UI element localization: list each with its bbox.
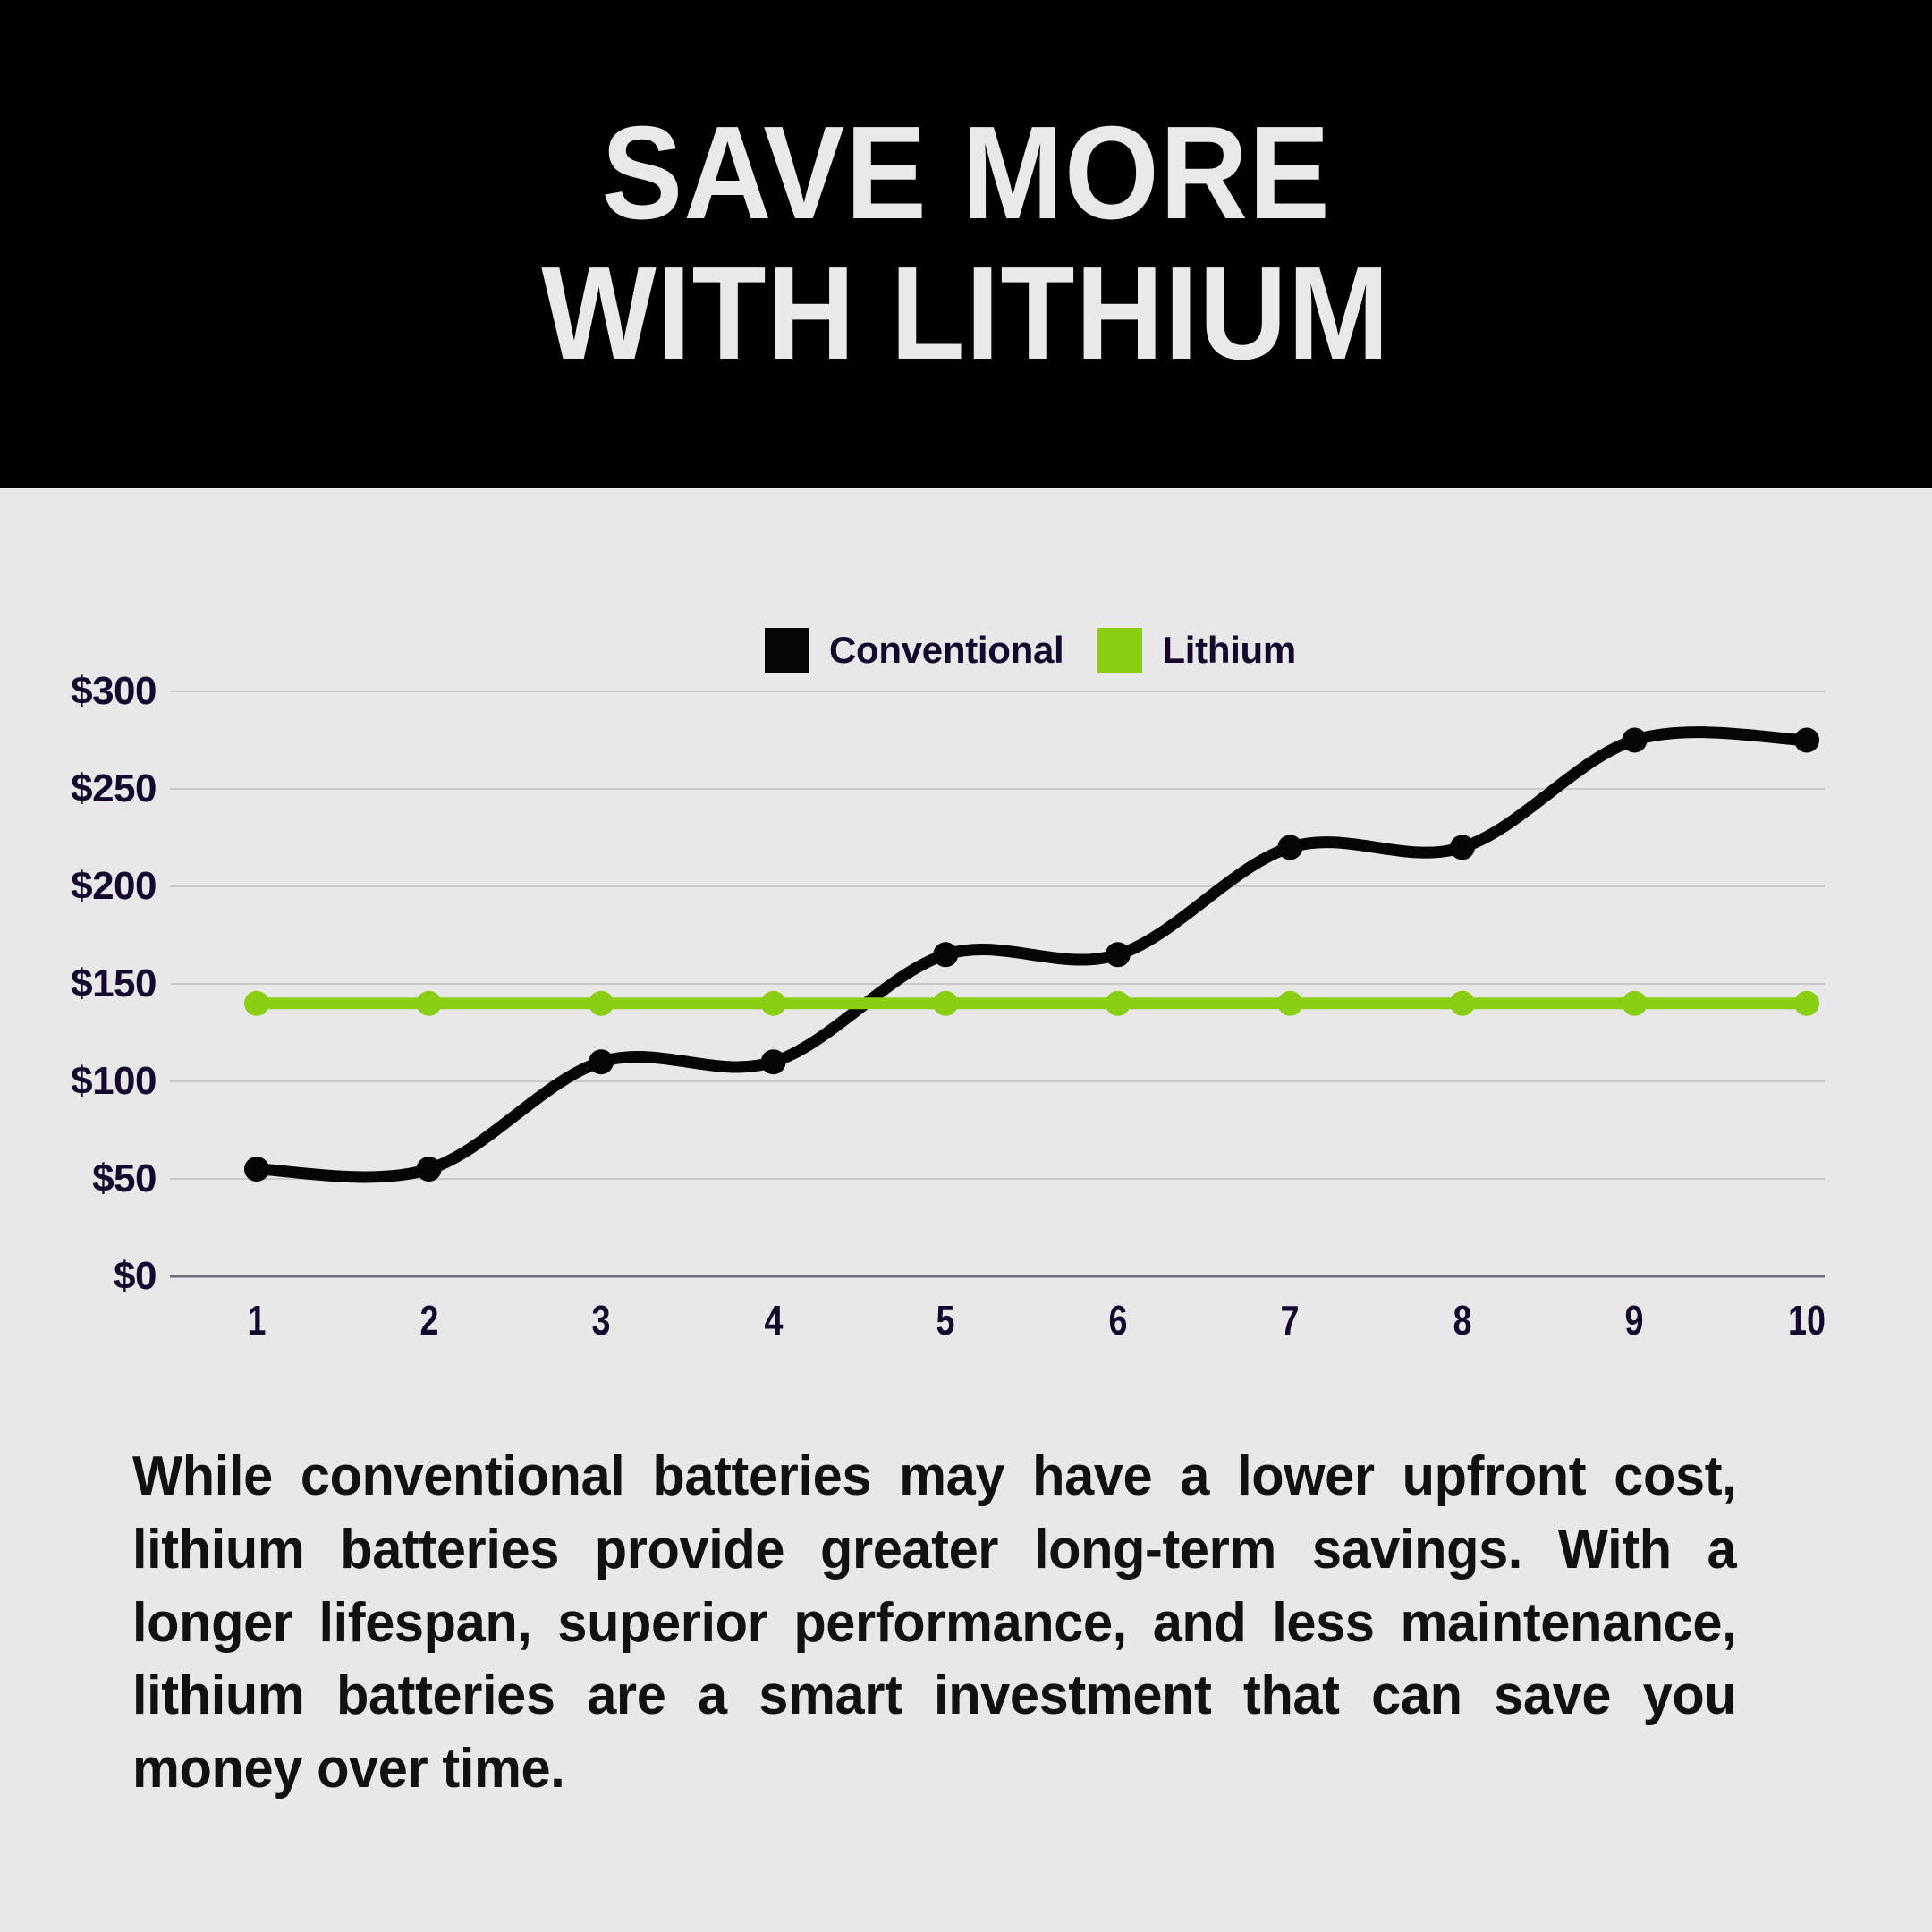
x-axis-tick-label: 1 <box>213 1296 301 1344</box>
x-axis-tick-label: 4 <box>729 1296 817 1344</box>
x-axis-tick-label: 3 <box>557 1296 645 1344</box>
x-axis-tick-label: 2 <box>385 1296 472 1344</box>
description-paragraph: While conventional batteries may have a … <box>132 1440 1736 1806</box>
page-title-line-2: WITH LITHIUM <box>542 247 1391 382</box>
x-axis-tick-label: 10 <box>1763 1296 1851 1344</box>
infographic-page: SAVE MORE WITH LITHIUM Conventional Lith… <box>0 0 1932 1932</box>
chart-container: Conventional Lithium $0$50$100$150$200$2… <box>0 488 1932 1392</box>
x-axis-tick-label: 6 <box>1074 1296 1162 1344</box>
header-banner: SAVE MORE WITH LITHIUM <box>0 0 1932 488</box>
x-axis-tick-label: 8 <box>1419 1296 1506 1344</box>
page-title-line-1: SAVE MORE <box>601 106 1330 241</box>
x-axis-tick-label: 9 <box>1590 1296 1678 1344</box>
x-axis-labels: 12345678910 <box>0 488 1932 1392</box>
x-axis-tick-label: 5 <box>902 1296 989 1344</box>
x-axis-tick-label: 7 <box>1246 1296 1334 1344</box>
plot-area: $0$50$100$150$200$250$300 12345678910 <box>0 488 1932 1392</box>
